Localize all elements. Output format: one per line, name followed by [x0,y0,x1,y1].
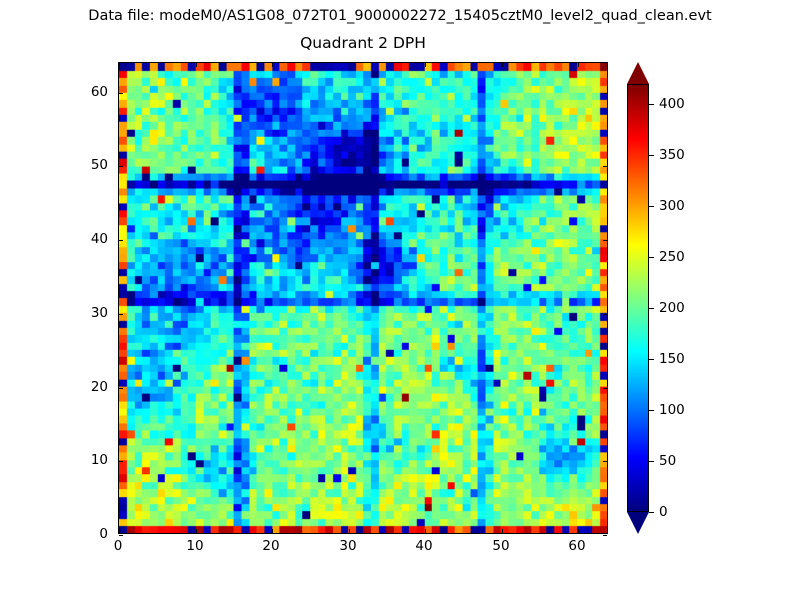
heatmap-image[interactable] [119,63,607,533]
xtick-top [425,63,426,67]
ytick-label: 0 [0,526,108,542]
colorbar-gradient [628,85,648,511]
xtick-bottom [578,529,579,533]
ytick-right [603,166,607,167]
xtick-top [196,63,197,67]
ytick-left [119,314,123,315]
colorbar-tick [649,155,654,156]
ytick-label: 30 [0,305,108,321]
xtick-bottom [502,529,503,533]
colorbar-over-arrow-icon [627,62,649,84]
colorbar-tick [649,206,654,207]
colorbar-tick-label: 0 [659,504,668,520]
xtick-bottom [349,529,350,533]
page-title: Quadrant 2 DPH [118,33,608,53]
colorbar-tick [649,308,654,309]
colorbar-under-arrow-icon [627,512,649,534]
colorbar-tick [649,104,654,105]
colorbar-tick-label: 50 [659,453,676,469]
xtick-bottom [425,529,426,533]
ytick-right [603,240,607,241]
colorbar-tick [649,512,654,513]
xtick-top [119,63,120,67]
colorbar-tick-label: 300 [659,198,685,214]
colorbar-tick-label: 200 [659,300,685,316]
ytick-left [119,461,123,462]
xtick-label: 50 [471,538,531,554]
ytick-right [603,535,607,536]
xtick-label: 20 [241,538,301,554]
heatmap-axes[interactable] [118,62,608,534]
ytick-left [119,166,123,167]
ytick-right [603,461,607,462]
colorbar-tick-label: 150 [659,351,685,367]
xtick-top [272,63,273,67]
ytick-left [119,93,123,94]
ytick-right [603,314,607,315]
figure-canvas: Data file: modeM0/AS1G08_072T01_90000022… [0,0,800,600]
colorbar-tick [649,410,654,411]
ytick-label: 10 [0,452,108,468]
ytick-right [603,93,607,94]
xtick-label: 60 [547,538,607,554]
xtick-bottom [196,529,197,533]
colorbar-tick [649,359,654,360]
colorbar-tick-label: 400 [659,96,685,112]
figure-suptitle: Data file: modeM0/AS1G08_072T01_90000022… [0,7,800,25]
ytick-label: 50 [0,157,108,173]
colorbar-tick-label: 100 [659,402,685,418]
xtick-top [578,63,579,67]
xtick-label: 40 [394,538,454,554]
xtick-top [349,63,350,67]
ytick-label: 20 [0,379,108,395]
ytick-right [603,388,607,389]
ytick-left [119,535,123,536]
colorbar-body [627,84,649,512]
ytick-left [119,388,123,389]
ytick-left [119,240,123,241]
colorbar-tick-label: 350 [659,147,685,163]
colorbar-tick [649,461,654,462]
ytick-label: 40 [0,231,108,247]
colorbar-tick-label: 250 [659,249,685,265]
colorbar[interactable]: 050100150200250300350400 [627,62,649,534]
xtick-label: 10 [165,538,225,554]
colorbar-tick [649,257,654,258]
xtick-top [502,63,503,67]
xtick-label: 30 [318,538,378,554]
xtick-bottom [119,529,120,533]
ytick-label: 60 [0,84,108,100]
xtick-bottom [272,529,273,533]
